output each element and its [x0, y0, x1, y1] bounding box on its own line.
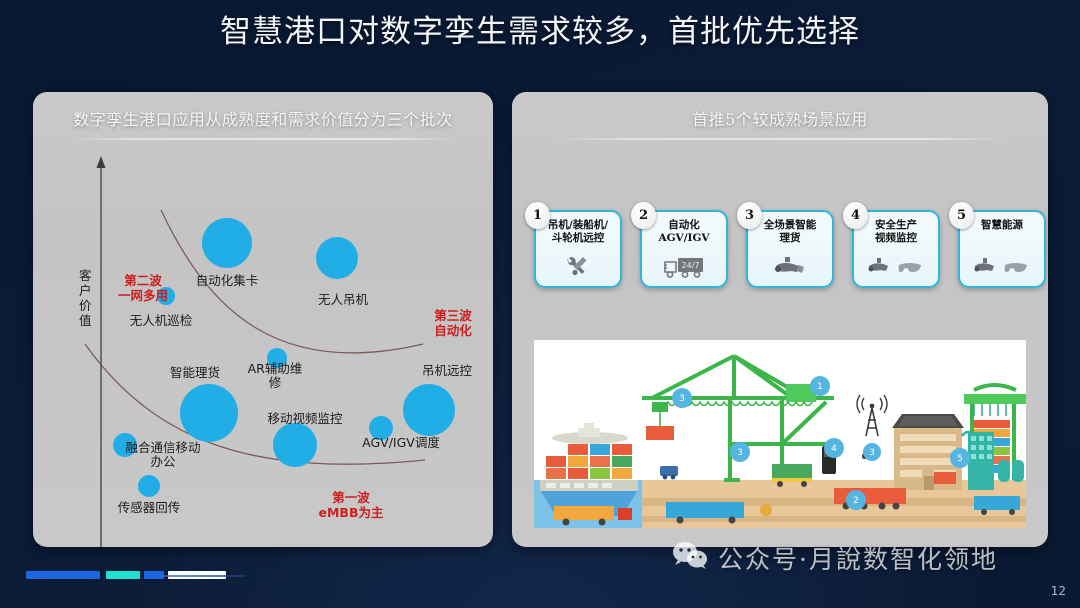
- right-panel-divider: [555, 138, 1005, 140]
- spreader: [652, 402, 668, 412]
- left-panel-divider: [70, 138, 456, 140]
- watermark: 公众号·月說数智化领地: [672, 540, 998, 576]
- bubble-label-agv-igv: AGV/IGV调度: [362, 436, 440, 450]
- wechat-icon: [672, 541, 708, 575]
- port-illustration: 1 2 3 3 4 5 3: [534, 340, 1026, 528]
- scenario-card-5-title: 智慧能源: [960, 219, 1044, 232]
- page-title: 智慧港口对数字孪生需求较多，首批优先选择: [0, 10, 1080, 54]
- right-panel-header: 首推5个较成熟场景应用: [512, 106, 1048, 130]
- bubble-label-crane-remote: 吊机远控: [422, 364, 472, 378]
- wave-label-first: 第一波eMBB为主: [319, 490, 384, 520]
- scenario-card-5[interactable]: 5 智慧能源: [958, 210, 1046, 288]
- bubble-label-converged-comm: 融合通信移动办公: [125, 441, 201, 469]
- progress-segment-2: [106, 571, 140, 579]
- svg-text:24/7: 24/7: [682, 261, 700, 270]
- scenario-card-3[interactable]: 3 全场景智能理货: [746, 210, 834, 288]
- scenario-card-2[interactable]: 2 自动化AGV/IGV 24/7: [640, 210, 728, 288]
- scenario-card-list: 1 吊机/装船机/斗轮机远控 2 自动化AGV/IGV 24/7: [530, 202, 1030, 288]
- bubble-label-mobile-video: 移动视频监控: [267, 412, 342, 426]
- scenario-card-1[interactable]: 1 吊机/装船机/斗轮机远控: [534, 210, 622, 288]
- progress-trailing-line: [160, 575, 246, 577]
- svg-text:3: 3: [737, 448, 743, 458]
- wave-label-third: 第三波自动化: [434, 308, 472, 338]
- page-number: 12: [1051, 584, 1066, 598]
- scenario-card-1-title: 吊机/装船机/斗轮机远控: [536, 219, 620, 245]
- left-panel-header: 数字孪生港口应用从成熟度和需求价值分为三个批次: [33, 106, 493, 130]
- bubble-label-auto-truck: 自动化集卡: [196, 274, 259, 288]
- wave-label-second: 第二波一网多用: [118, 273, 168, 303]
- bubble-label-smart-tally: 智能理货: [170, 366, 220, 380]
- svg-text:5: 5: [957, 454, 963, 464]
- scenario-card-4[interactable]: 4 安全生产视频监控: [852, 210, 940, 288]
- wrench-screwdriver-icon: [536, 252, 620, 282]
- svg-text:3: 3: [869, 448, 875, 458]
- scenario-card-3-title: 全场景智能理货: [748, 219, 832, 245]
- progress-segment-1: [26, 571, 100, 579]
- camera-glasses-icon: [960, 252, 1044, 282]
- cctv-camera-icon: [748, 252, 832, 282]
- scenario-card-4-title: 安全生产视频监控: [854, 219, 938, 245]
- svg-text:4: 4: [831, 444, 837, 454]
- right-panel: 首推5个较成熟场景应用 1 吊机/装船机/斗轮机远控 2 自动化AGV/IGV: [512, 92, 1048, 547]
- svg-text:2: 2: [853, 496, 859, 506]
- scenario-card-2-title: 自动化AGV/IGV: [642, 219, 726, 245]
- svg-text:3: 3: [679, 394, 685, 404]
- camera-glasses-icon: [854, 252, 938, 282]
- truck-24-7-icon: 24/7: [642, 252, 726, 282]
- watermark-text: 公众号·月說数智化领地: [718, 540, 998, 576]
- bubble-label-sensor-backhaul: 传感器回传: [118, 501, 181, 515]
- left-panel: 数字孪生港口应用从成熟度和需求价值分为三个批次 客户价值 5G需求相关性: [33, 92, 493, 547]
- bubble-label-unmanned-crane: 无人吊机: [318, 293, 368, 307]
- hoisted-container: [646, 426, 674, 440]
- bubble-label-ar-maintenance: AR辅助维修: [247, 362, 303, 390]
- svg-text:1: 1: [817, 382, 823, 392]
- bubble-label-drone-patrol: 无人机巡检: [130, 314, 193, 328]
